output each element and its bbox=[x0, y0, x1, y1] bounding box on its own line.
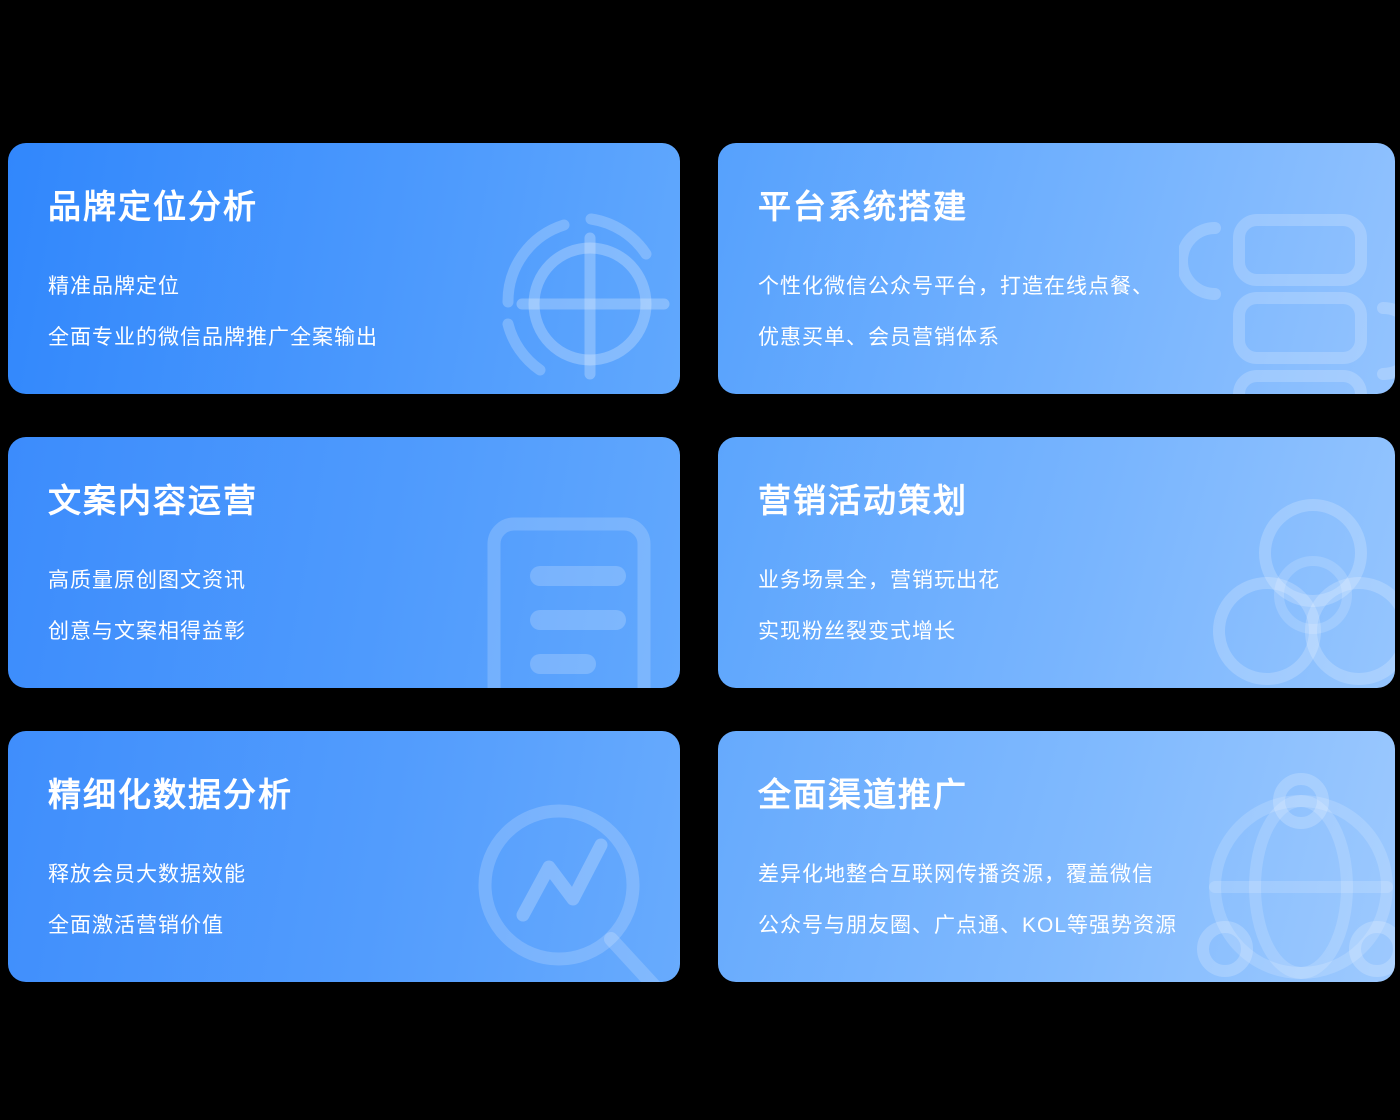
card-desc-line: 业务场景全，营销玩出花 bbox=[758, 555, 1355, 606]
card-desc-line: 全面专业的微信品牌推广全案输出 bbox=[48, 312, 640, 363]
card-desc-line: 高质量原创图文资讯 bbox=[48, 555, 640, 606]
feature-card-brand-positioning[interactable]: 品牌定位分析 精准品牌定位 全面专业的微信品牌推广全案输出 bbox=[8, 143, 680, 394]
feature-card-refined-data-analysis[interactable]: 精细化数据分析 释放会员大数据效能 全面激活营销价值 bbox=[8, 731, 680, 982]
card-description: 差异化地整合互联网传播资源，覆盖微信 公众号与朋友圈、广点通、KOL等强势资源 bbox=[758, 849, 1355, 951]
feature-card-platform-system-build[interactable]: 平台系统搭建 个性化微信公众号平台，打造在线点餐、 优惠买单、会员营销体系 bbox=[718, 143, 1395, 394]
card-title: 平台系统搭建 bbox=[758, 187, 1355, 227]
card-desc-line: 差异化地整合互联网传播资源，覆盖微信 bbox=[758, 849, 1355, 900]
card-desc-line: 个性化微信公众号平台，打造在线点餐、 bbox=[758, 261, 1355, 312]
card-desc-line: 实现粉丝裂变式增长 bbox=[758, 606, 1355, 657]
card-desc-line: 优惠买单、会员营销体系 bbox=[758, 312, 1355, 363]
card-title: 文案内容运营 bbox=[48, 481, 640, 521]
card-description: 个性化微信公众号平台，打造在线点餐、 优惠买单、会员营销体系 bbox=[758, 261, 1355, 363]
card-description: 释放会员大数据效能 全面激活营销价值 bbox=[48, 849, 640, 951]
card-description: 高质量原创图文资讯 创意与文案相得益彰 bbox=[48, 555, 640, 657]
card-title: 全面渠道推广 bbox=[758, 775, 1355, 815]
card-description: 精准品牌定位 全面专业的微信品牌推广全案输出 bbox=[48, 261, 640, 363]
card-title: 营销活动策划 bbox=[758, 481, 1355, 521]
feature-card-full-channel-promotion[interactable]: 全面渠道推广 差异化地整合互联网传播资源，覆盖微信 公众号与朋友圈、广点通、KO… bbox=[718, 731, 1395, 982]
card-desc-line: 全面激活营销价值 bbox=[48, 900, 640, 951]
feature-card-copywriting-content-operation[interactable]: 文案内容运营 高质量原创图文资讯 创意与文案相得益彰 bbox=[8, 437, 680, 688]
card-grid-board: 品牌定位分析 精准品牌定位 全面专业的微信品牌推广全案输出 平台系统搭建 个性化… bbox=[0, 0, 1400, 1120]
card-desc-line: 创意与文案相得益彰 bbox=[48, 606, 640, 657]
feature-card-marketing-campaign-planning[interactable]: 营销活动策划 业务场景全，营销玩出花 实现粉丝裂变式增长 bbox=[718, 437, 1395, 688]
card-desc-line: 公众号与朋友圈、广点通、KOL等强势资源 bbox=[758, 900, 1355, 951]
card-description: 业务场景全，营销玩出花 实现粉丝裂变式增长 bbox=[758, 555, 1355, 657]
card-title: 精细化数据分析 bbox=[48, 775, 640, 815]
card-desc-line: 精准品牌定位 bbox=[48, 261, 640, 312]
card-desc-line: 释放会员大数据效能 bbox=[48, 849, 640, 900]
card-title: 品牌定位分析 bbox=[48, 187, 640, 227]
feature-card-grid: 品牌定位分析 精准品牌定位 全面专业的微信品牌推广全案输出 平台系统搭建 个性化… bbox=[8, 143, 1395, 982]
